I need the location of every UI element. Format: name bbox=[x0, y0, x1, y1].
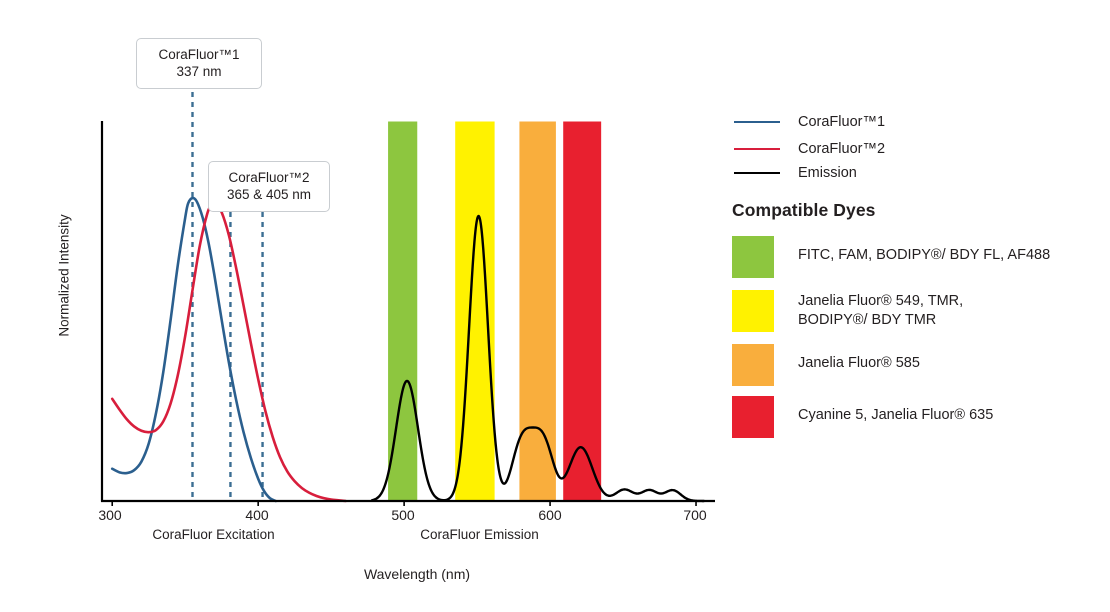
x-tick-300: 300 bbox=[80, 507, 140, 523]
legend-label-corafluor2: CoraFluor™2 bbox=[798, 141, 885, 157]
callout2-line2: 365 & 405 nm bbox=[221, 186, 317, 203]
dye-swatch-green bbox=[732, 236, 774, 278]
dye-item-red: Cyanine 5, Janelia Fluor® 635 bbox=[732, 396, 993, 438]
legend-line-emission bbox=[734, 172, 780, 174]
legend-item-corafluor1: CoraFluor™1 bbox=[734, 114, 885, 130]
x-tick-500: 500 bbox=[373, 507, 433, 523]
legend-label-corafluor1: CoraFluor™1 bbox=[798, 114, 885, 130]
legend-label-emission: Emission bbox=[798, 165, 857, 181]
x-axis-label: Wavelength (nm) bbox=[252, 566, 582, 582]
x-tick-400: 400 bbox=[227, 507, 287, 523]
red-band bbox=[563, 122, 601, 502]
emission-region-label: CoraFluor Emission bbox=[362, 527, 597, 542]
dye-label-orange: Janelia Fluor® 585 bbox=[798, 344, 920, 373]
y-axis-label: Normalized Intensity bbox=[57, 196, 72, 356]
dye-label-green: FITC, FAM, BODIPY®/ BDY FL, AF488 bbox=[798, 236, 1050, 265]
curve-excitation-1 bbox=[112, 204, 346, 501]
dye-swatch-red bbox=[732, 396, 774, 438]
compatible-dyes-title: Compatible Dyes bbox=[732, 200, 875, 221]
dye-item-orange: Janelia Fluor® 585 bbox=[732, 344, 920, 386]
callout1-line1: CoraFluor™1 bbox=[158, 47, 239, 62]
dye-swatch-orange bbox=[732, 344, 774, 386]
callout1-line2: 337 nm bbox=[149, 63, 249, 80]
legend-panel: CoraFluor™1 CoraFluor™2 Emission Compati… bbox=[730, 0, 1110, 612]
dye-swatch-yellow bbox=[732, 290, 774, 332]
legend-item-emission: Emission bbox=[734, 165, 857, 181]
chart-figure: Normalized Intensity Wavelength (nm) Cor… bbox=[0, 0, 1110, 612]
callout-corafluor1: CoraFluor™1 337 nm bbox=[136, 38, 262, 89]
dye-label-yellow: Janelia Fluor® 549, TMR, BODIPY®/ BDY TM… bbox=[798, 290, 963, 330]
excitation-region-label: CoraFluor Excitation bbox=[96, 527, 331, 542]
callout2-line1: CoraFluor™2 bbox=[228, 170, 309, 185]
legend-line-corafluor1 bbox=[734, 121, 780, 123]
x-tick-700: 700 bbox=[665, 507, 725, 523]
x-tick-600: 600 bbox=[520, 507, 580, 523]
dye-item-green: FITC, FAM, BODIPY®/ BDY FL, AF488 bbox=[732, 236, 1050, 278]
legend-line-corafluor2 bbox=[734, 148, 780, 150]
callout-corafluor2: CoraFluor™2 365 & 405 nm bbox=[208, 161, 330, 212]
orange-band bbox=[519, 122, 555, 502]
legend-item-corafluor2: CoraFluor™2 bbox=[734, 141, 885, 157]
dye-label-red: Cyanine 5, Janelia Fluor® 635 bbox=[798, 396, 993, 425]
dye-item-yellow: Janelia Fluor® 549, TMR, BODIPY®/ BDY TM… bbox=[732, 290, 963, 332]
plot-area: Normalized Intensity Wavelength (nm) Cor… bbox=[0, 0, 730, 612]
